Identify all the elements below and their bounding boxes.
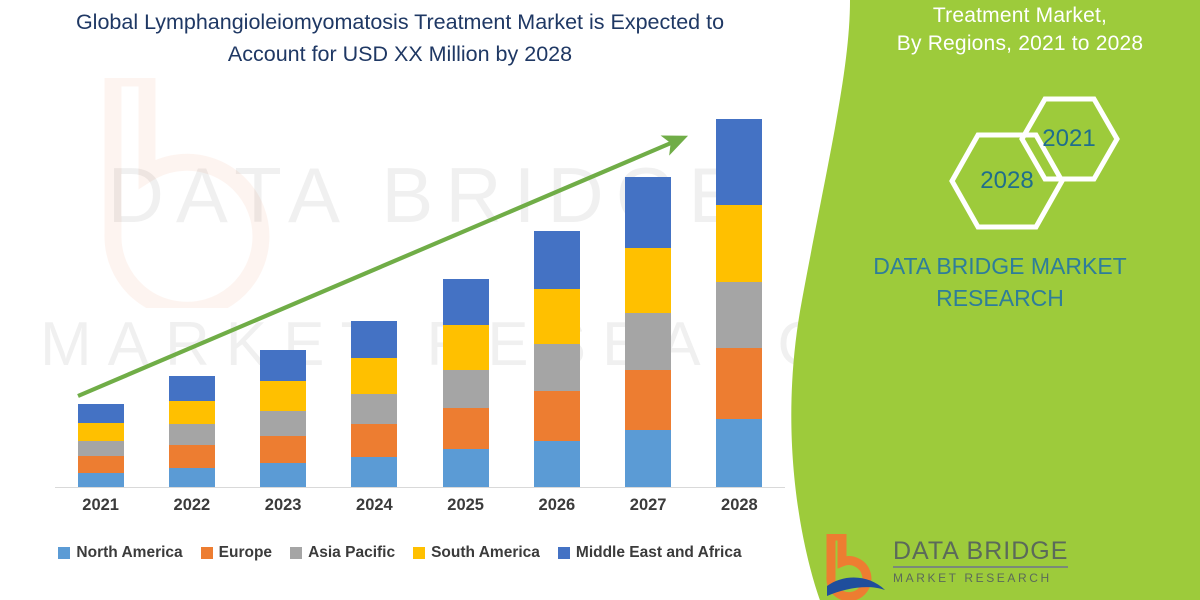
legend-swatch-icon: [290, 547, 302, 559]
bar-segment: [716, 419, 762, 487]
bar-segment: [169, 424, 215, 444]
stacked-bar-2025: [443, 279, 489, 487]
x-axis-label-2028: 2028: [694, 496, 785, 524]
legend-swatch-icon: [558, 547, 570, 559]
bar-segment: [443, 408, 489, 449]
bar-column: [55, 100, 146, 487]
bar-segment: [351, 394, 397, 425]
hexagon-2021-label: 2021: [1018, 95, 1120, 183]
panel-brand-text: DATA BRIDGE MARKET RESEARCH: [820, 250, 1180, 314]
bar-segment: [625, 430, 671, 487]
bar-segment: [443, 449, 489, 487]
bar-segment: [78, 404, 124, 423]
bar-segment: [260, 411, 306, 436]
x-axis-label-2025: 2025: [420, 496, 511, 524]
bar-segment: [169, 468, 215, 487]
chart-area: DATA BRIDGE MARKET RESEARCH Global Lymph…: [0, 0, 820, 600]
bar-segment: [534, 441, 580, 487]
logo-line-2: MARKET RESEARCH: [893, 570, 1068, 586]
bar-segment: [716, 282, 762, 348]
legend-label: North America: [76, 544, 182, 562]
bar-segment: [351, 321, 397, 359]
bar-segment: [534, 344, 580, 392]
bar-segment: [534, 391, 580, 441]
hexagon-2021: 2021: [1018, 95, 1120, 183]
legend-label: South America: [431, 544, 540, 562]
chart-legend: North AmericaEuropeAsia PacificSouth Ame…: [0, 538, 800, 568]
bar-segment: [78, 441, 124, 456]
legend-label: Middle East and Africa: [576, 544, 742, 562]
bar-column: [694, 100, 785, 487]
x-axis-label-2023: 2023: [238, 496, 329, 524]
bar-series-group: [55, 100, 785, 487]
legend-item[interactable]: Middle East and Africa: [558, 544, 742, 562]
data-bridge-logo-text: DATA BRIDGE MARKET RESEARCH: [893, 538, 1068, 586]
stacked-bar-2026: [534, 231, 580, 487]
x-axis-label-2027: 2027: [603, 496, 694, 524]
stacked-bar-2024: [351, 321, 397, 487]
bar-segment: [716, 119, 762, 204]
panel-title: Treatment Market, By Regions, 2021 to 20…: [850, 2, 1190, 58]
legend-swatch-icon: [58, 547, 70, 559]
bar-segment: [78, 456, 124, 473]
bar-segment: [625, 177, 671, 248]
stacked-bar-2021: [78, 404, 124, 487]
legend-item[interactable]: Europe: [201, 544, 272, 562]
bar-segment: [169, 401, 215, 425]
stacked-bar-2023: [260, 350, 306, 487]
hexagon-group: 2028 2021: [890, 95, 1170, 225]
x-axis-label-2022: 2022: [146, 496, 237, 524]
bar-segment: [169, 445, 215, 468]
data-bridge-logo-mark-icon: [825, 534, 887, 600]
stacked-bar-2022: [169, 376, 215, 488]
panel-brand-line-2: RESEARCH: [820, 282, 1180, 314]
brand-panel: Treatment Market, By Regions, 2021 to 20…: [780, 0, 1200, 600]
bar-segment: [78, 473, 124, 487]
logo-line-1: DATA BRIDGE: [893, 538, 1068, 568]
stacked-bar-2028: [716, 119, 762, 487]
bar-segment: [351, 424, 397, 457]
bar-column: [420, 100, 511, 487]
panel-brand-line-1: DATA BRIDGE MARKET: [820, 250, 1180, 282]
bar-segment: [260, 463, 306, 487]
x-axis-line: [55, 487, 785, 488]
legend-label: Asia Pacific: [308, 544, 395, 562]
bar-column: [238, 100, 329, 487]
bar-segment: [443, 279, 489, 326]
chart-title-line-2: Account for USD XX Million by 2028: [30, 38, 770, 70]
bar-segment: [260, 350, 306, 381]
bar-segment: [716, 205, 762, 282]
bar-segment: [443, 325, 489, 369]
legend-swatch-icon: [201, 547, 213, 559]
bar-segment: [260, 381, 306, 411]
bar-column: [329, 100, 420, 487]
bar-segment: [351, 358, 397, 393]
bar-column: [511, 100, 602, 487]
data-bridge-logo: DATA BRIDGE MARKET RESEARCH: [825, 530, 1185, 600]
bar-segment: [716, 348, 762, 419]
bar-segment: [534, 231, 580, 289]
plot-region: [55, 100, 785, 488]
panel-title-line-2: By Regions, 2021 to 2028: [850, 30, 1190, 58]
legend-label: Europe: [219, 544, 272, 562]
panel-title-line-1: Treatment Market,: [850, 2, 1190, 30]
legend-item[interactable]: Asia Pacific: [290, 544, 395, 562]
chart-title: Global Lymphangioleiomyomatosis Treatmen…: [30, 6, 770, 70]
bar-segment: [625, 313, 671, 370]
bar-segment: [625, 370, 671, 430]
x-axis-label-2021: 2021: [55, 496, 146, 524]
x-axis-label-2024: 2024: [329, 496, 420, 524]
legend-item[interactable]: South America: [413, 544, 540, 562]
x-axis-label-2026: 2026: [511, 496, 602, 524]
legend-item[interactable]: North America: [58, 544, 182, 562]
chart-title-line-1: Global Lymphangioleiomyomatosis Treatmen…: [30, 6, 770, 38]
legend-swatch-icon: [413, 547, 425, 559]
bar-segment: [443, 370, 489, 409]
x-axis-labels: 20212022202320242025202620272028: [55, 496, 785, 524]
bar-segment: [534, 289, 580, 344]
bar-segment: [78, 423, 124, 441]
bar-column: [603, 100, 694, 487]
bar-segment: [169, 376, 215, 401]
bar-segment: [351, 457, 397, 487]
bar-segment: [260, 436, 306, 463]
stacked-bar-2027: [625, 177, 671, 487]
bar-column: [146, 100, 237, 487]
bar-segment: [625, 248, 671, 313]
